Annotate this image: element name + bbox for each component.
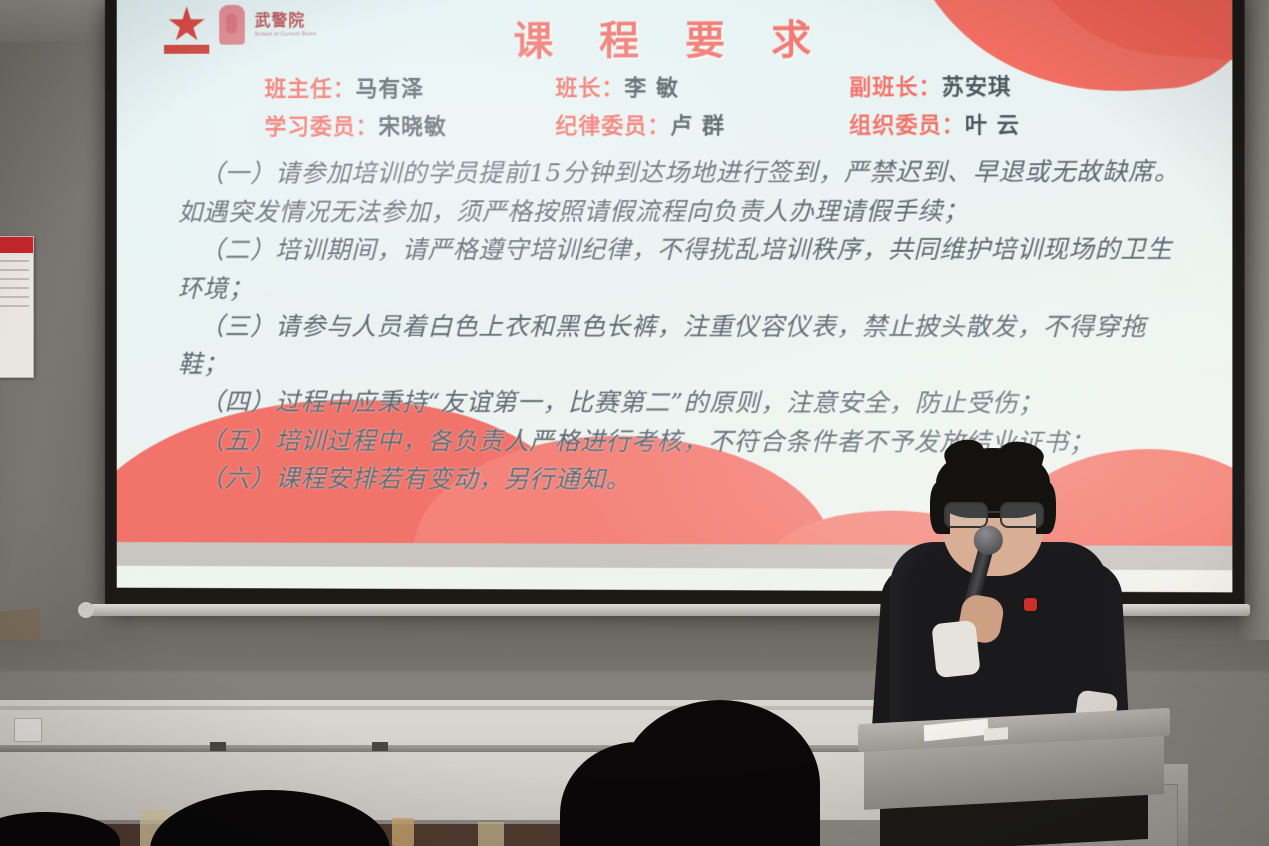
light-switch[interactable] [14,718,42,742]
glasses-icon [942,502,1046,524]
roster-person-name: 卢 群 [670,114,725,139]
roster-entry: 班主任：马有泽 [265,70,556,103]
podium-small-object [984,727,1008,741]
roster-person-name: 李 敏 [624,76,679,101]
podium [858,716,1188,846]
roster-role-label: 组织委员： [849,113,965,138]
slide-paragraph: 如遇突发情况无法参加，须严格按照请假流程向负责人办理请假手续； [178,192,1196,231]
wall-notice-board [0,236,34,378]
roster-entry: 纪律委员：卢 群 [556,107,849,140]
roster-entry: 学习委员：宋晓敏 [265,108,556,141]
desk-object [478,822,504,846]
slide-paragraph: （二）培训期间，请严格遵守培训纪律，不得扰乱培训秩序，共同维护培训现场的卫生 [178,230,1196,268]
roster-person-name: 马有泽 [356,77,424,102]
lapel-pin-icon [1024,598,1037,611]
roster-grid: 班主任：马有泽 班长：李 敏 副班长：苏安琪 学习委员：宋晓敏 纪律委员：卢 群 [265,68,1146,141]
slide-paragraph: （四）过程中应秉持“友谊第一，比赛第二”的原则，注意安全，防止受伤； [178,383,1196,422]
notice-header-band [0,237,33,253]
roster-role-label: 纪律委员： [556,114,671,139]
speaker-left-cuff [931,620,980,678]
roster-person-name: 宋晓敏 [378,115,446,140]
slide-paragraph: （三）请参与人员着白色上衣和黑色长裤，注重仪容仪表，禁止披头散发，不得穿拖鞋； [178,308,1196,384]
photo-scene: 武警院 School of Current Rules 课 程 要 求 班主任：… [0,0,1269,846]
whiteboard-clip [210,742,226,751]
roster-role-label: 副班长： [849,75,942,100]
slide-paragraph: 环境； [178,269,1196,307]
slide-title: 课 程 要 求 [117,6,1233,68]
roster-role-label: 学习委员： [265,115,379,140]
slide-paragraph: （一）请参加培训的学员提前15分钟到达场地进行签到，严禁迟到、早退或无故缺席。 [178,153,1196,192]
roster-entry: 副班长：苏安琪 [849,68,1145,101]
desk-cup [392,818,414,846]
roster-entry: 班长：李 敏 [556,69,849,102]
whiteboard-clip [372,742,388,751]
roster-entry: 组织委员：叶 云 [849,107,1145,140]
roster-person-name: 叶 云 [965,113,1020,138]
roster-role-label: 班主任： [265,77,356,102]
roster-person-name: 苏安琪 [942,75,1012,100]
roster-role-label: 班长： [556,76,625,101]
